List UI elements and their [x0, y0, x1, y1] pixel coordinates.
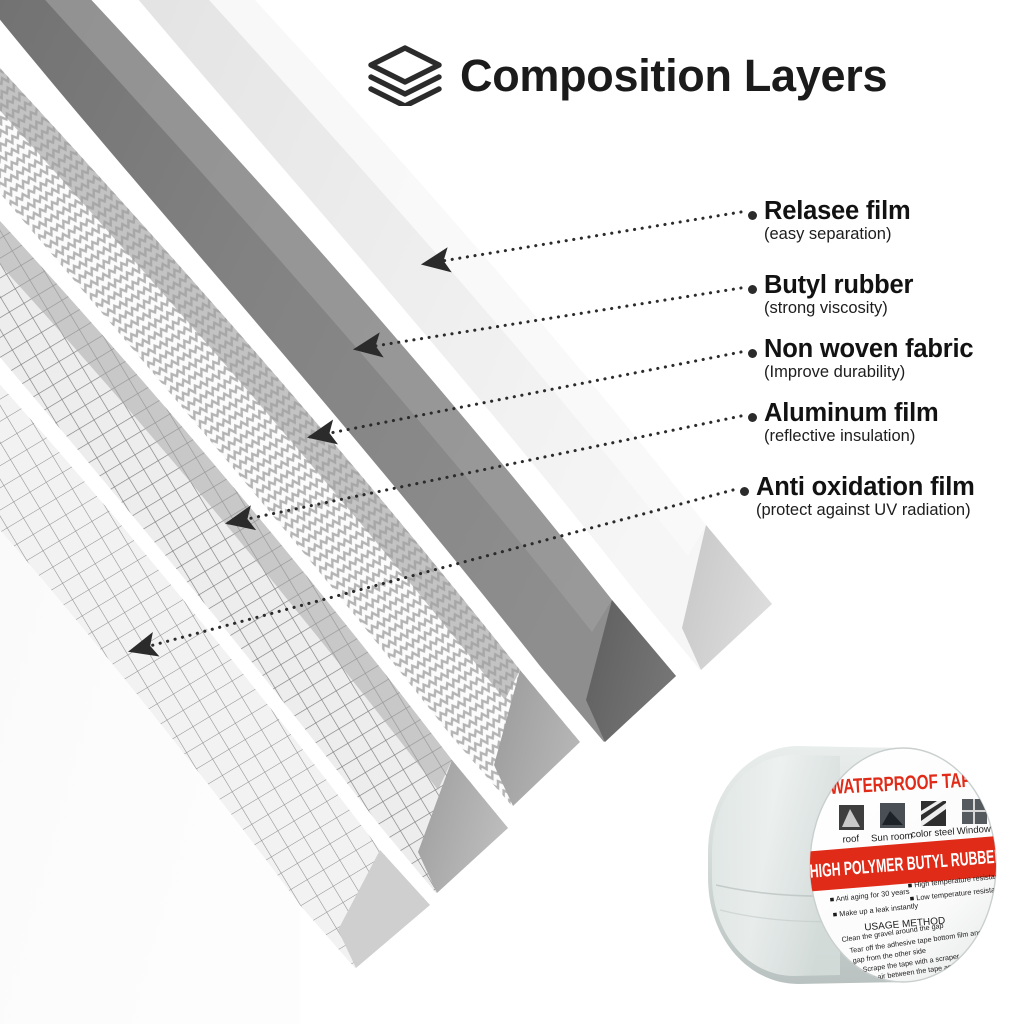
bullet-dot-release-film [748, 211, 757, 220]
page-title-text: Composition Layers [460, 53, 887, 98]
callout-anti-oxidation-film: Anti oxidation film (protect against UV … [740, 474, 1024, 520]
callout-release-film: Relasee film (easy separation) [748, 198, 1024, 244]
callout-aluminum-film: Aluminum film (reflective insulation) [748, 400, 1024, 446]
callout-title-release-film: Relasee film [764, 197, 910, 225]
callout-sub-aluminum-film: (reflective insulation) [764, 427, 915, 445]
page-title: Composition Layers [366, 44, 887, 106]
bullet-dot-butyl-rubber [748, 285, 757, 294]
composition-layers-infographic: Composition Layers Relasee film (easy se… [0, 0, 1024, 1024]
callout-sub-anti-oxidation-film: (protect against UV radiation) [756, 501, 971, 519]
callout-title-non-woven-fabric: Non woven fabric [764, 335, 973, 363]
bullet-dot-anti-oxidation-film [740, 487, 749, 496]
thumb-caption-roof: roof [842, 833, 860, 845]
callout-title-butyl-rubber: Butyl rubber [764, 271, 913, 299]
callout-sub-butyl-rubber: (strong viscosity) [764, 299, 888, 317]
callout-title-aluminum-film: Aluminum film [764, 399, 938, 427]
callout-sub-non-woven-fabric: (Improve durability) [764, 363, 905, 381]
product-tape-roll: WATERPROOF TAPE roof Sun room color stee… [690, 735, 1024, 990]
bullet-dot-non-woven-fabric [748, 349, 757, 358]
callout-title-anti-oxidation-film: Anti oxidation film [756, 473, 975, 501]
layers-stack-icon [366, 44, 444, 106]
bullet-dot-aluminum-film [748, 413, 757, 422]
callout-butyl-rubber: Butyl rubber (strong viscosity) [748, 272, 1024, 318]
callout-non-woven-fabric: Non woven fabric (Improve durability) [748, 336, 1024, 382]
callout-sub-release-film: (easy separation) [764, 225, 891, 243]
